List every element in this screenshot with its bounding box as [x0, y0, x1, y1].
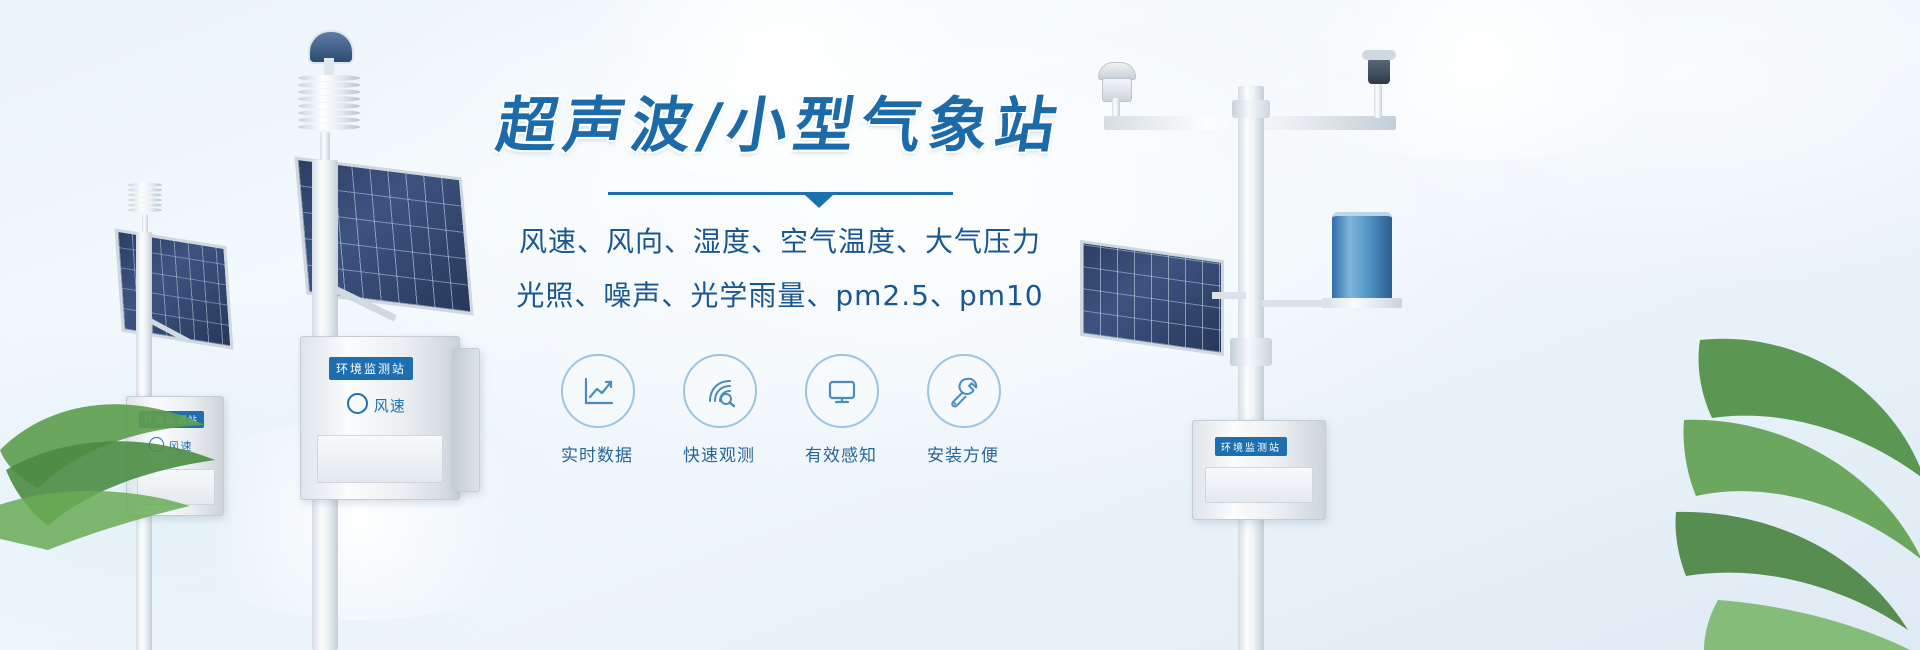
- product-banner: 环境监测站 风速 环境监测站 风速: [0, 0, 1920, 650]
- feature-item-effective-sensing[interactable]: 有效感知: [805, 354, 877, 466]
- cabinet-right: 环境监测站: [1192, 420, 1326, 520]
- vane-stem: [1374, 84, 1382, 118]
- mast-collar-mid: [1230, 338, 1272, 366]
- cabinet-brand-large: 风速: [347, 393, 406, 416]
- divider-triangle-icon: [805, 195, 833, 208]
- cabinet-door-large: [317, 435, 443, 483]
- banner-text-block: 超声波/小型气象站 风速、风向、湿度、空气温度、大气压力 光照、噪声、光学雨量、…: [430, 96, 1130, 576]
- feature-item-fast-observation[interactable]: 快速观测: [683, 354, 755, 466]
- feature-item-realtime-data[interactable]: 实时数据: [561, 354, 633, 466]
- feature-label: 有效感知: [805, 441, 877, 466]
- feature-item-easy-install[interactable]: 安装方便: [927, 354, 999, 466]
- brand-text-large: 风速: [374, 397, 406, 415]
- leaf-left: [0, 330, 230, 550]
- rain-gauge-arm: [1262, 300, 1328, 307]
- subtitle-line-2: 光照、噪声、光学雨量、pm2.5、pm10: [430, 274, 1130, 314]
- feature-label: 实时数据: [561, 441, 633, 466]
- main-mast: [1238, 86, 1264, 650]
- line-chart-icon: [579, 372, 617, 410]
- subtitle-line-1: 风速、风向、湿度、空气温度、大气压力: [430, 220, 1130, 260]
- rain-gauge-shelf: [1322, 298, 1402, 308]
- rain-gauge: [1332, 212, 1392, 304]
- radiation-shield-sensor-small: [128, 182, 162, 213]
- leaf-right: [1660, 300, 1920, 650]
- feature-label: 快速观测: [683, 441, 755, 466]
- feature-icon-circle: [561, 354, 635, 428]
- cabinet-label-right: 环境监测站: [1215, 437, 1287, 456]
- monitor-screen-icon: [823, 372, 861, 410]
- page-title: 超声波/小型气象站: [425, 96, 1135, 156]
- feature-icon-circle: [683, 354, 757, 428]
- radiation-shield-sensor-large: [298, 74, 360, 131]
- cabinet-door-right: [1205, 467, 1313, 503]
- wrench-icon: [945, 372, 983, 410]
- title-divider: [608, 192, 953, 204]
- feature-icon-circle: [927, 354, 1001, 428]
- feature-label: 安装方便: [927, 441, 999, 466]
- cabinet-label-large: 环境监测站: [329, 357, 413, 380]
- mast-collar-top: [1232, 100, 1270, 118]
- feature-icon-circle: [805, 354, 879, 428]
- vane-sensor: [1368, 58, 1390, 84]
- feature-list: 实时数据 快速观测: [430, 354, 1130, 466]
- signal-observation-icon: [701, 372, 739, 410]
- solar-panel-right-arm: [1212, 292, 1246, 299]
- vane-sensor-cap: [1362, 50, 1396, 60]
- divider-line: [608, 192, 953, 195]
